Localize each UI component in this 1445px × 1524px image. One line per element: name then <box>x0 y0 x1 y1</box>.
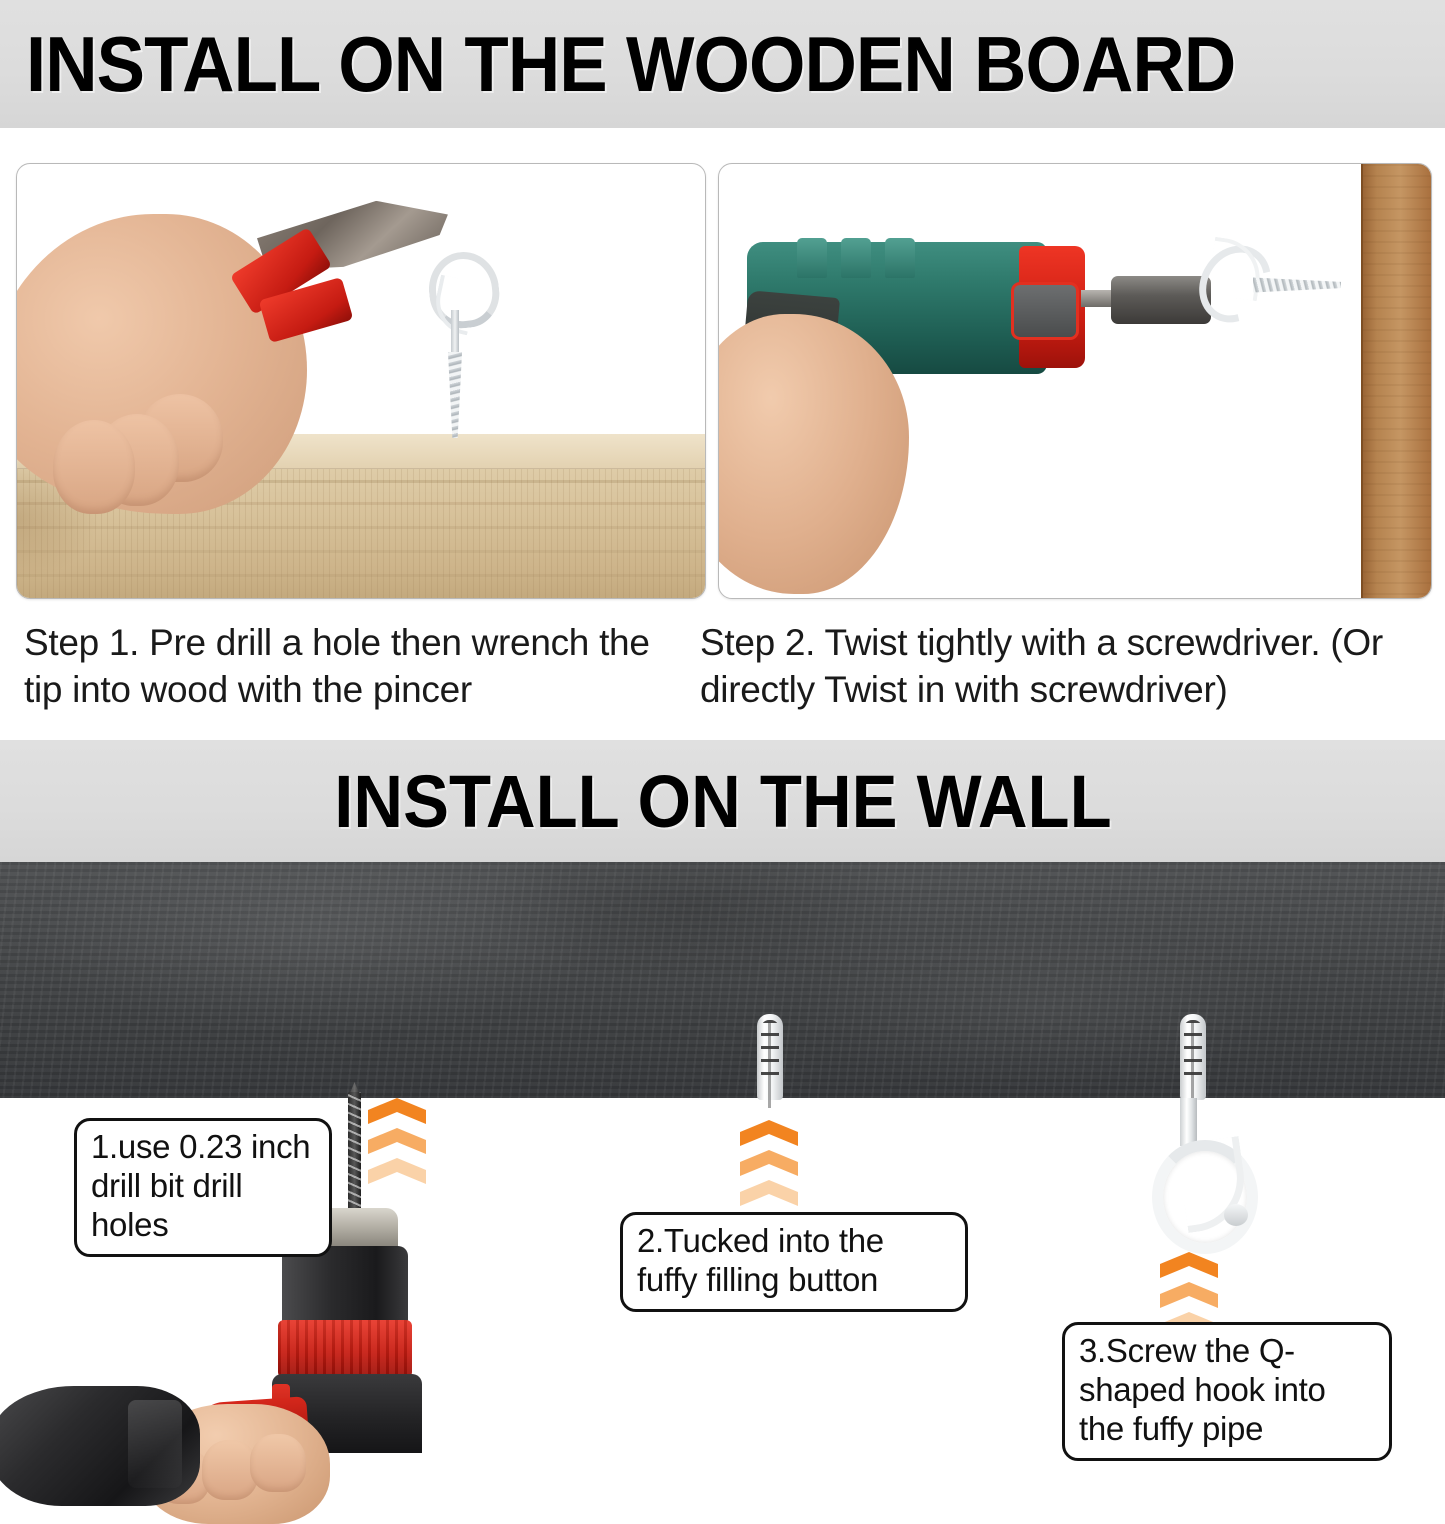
drill-nose <box>282 1246 408 1324</box>
step-1-caption: Step 1. Pre drill a hole then wrench the… <box>24 620 684 713</box>
chevron-arrows-up <box>740 1120 798 1210</box>
q-shaped-hook-screw <box>415 252 495 452</box>
hand-holding-drill <box>718 314 909 594</box>
finger <box>250 1434 306 1492</box>
wall-anchor-plug <box>1180 1014 1206 1100</box>
chevron-arrows-up <box>368 1098 426 1188</box>
chevron-icon <box>740 1180 798 1206</box>
chevron-icon <box>368 1128 426 1154</box>
step-2-photo <box>718 163 1432 599</box>
hook-screw-thread <box>444 352 466 438</box>
wooden-post <box>1361 164 1431 598</box>
chevron-icon <box>740 1150 798 1176</box>
drill-vent-ridge <box>841 238 871 278</box>
section-header-wooden-board: INSTALL ON THE WOODEN BOARD <box>0 0 1445 128</box>
chevron-icon <box>1160 1282 1218 1308</box>
knuckle <box>53 420 135 514</box>
drill-vent-ridge <box>797 238 827 278</box>
drill-bit <box>348 1092 361 1210</box>
callout-step-2: 2.Tucked into the fuffy filling button <box>620 1212 968 1312</box>
callout-step-1: 1.use 0.23 inch drill bit drill holes <box>74 1118 332 1257</box>
q-shaped-hook-screw <box>1201 234 1331 344</box>
chevron-icon <box>368 1158 426 1184</box>
heading-install-on-wall: INSTALL ON THE WALL <box>334 759 1111 844</box>
chevron-icon <box>368 1098 426 1124</box>
drill-direction-switch <box>1011 282 1079 340</box>
hook-stem <box>1180 1098 1197 1146</box>
callout-step-3: 3.Screw the Q-shaped hook into the fuffy… <box>1062 1322 1392 1461</box>
q-shaped-hook <box>1146 1098 1276 1278</box>
step-2-caption: Step 2. Twist tightly with a screwdriver… <box>700 620 1440 713</box>
section-header-wall: INSTALL ON THE WALL <box>0 740 1445 862</box>
drill-vent-ridge <box>885 238 915 278</box>
wall-anchor-plug <box>757 1014 783 1100</box>
step-1-photo <box>16 163 706 599</box>
hook-tip-nub <box>1224 1204 1248 1226</box>
anchor-body <box>1180 1014 1206 1100</box>
anchor-body <box>757 1014 783 1100</box>
drill-chuck <box>1111 276 1211 324</box>
drill-torque-collar <box>278 1320 412 1378</box>
chevron-icon <box>740 1120 798 1146</box>
heading-install-on-wooden-board: INSTALL ON THE WOODEN BOARD <box>26 19 1235 110</box>
concrete-wall <box>0 862 1445 1098</box>
drill-battery-pack <box>0 1386 200 1506</box>
